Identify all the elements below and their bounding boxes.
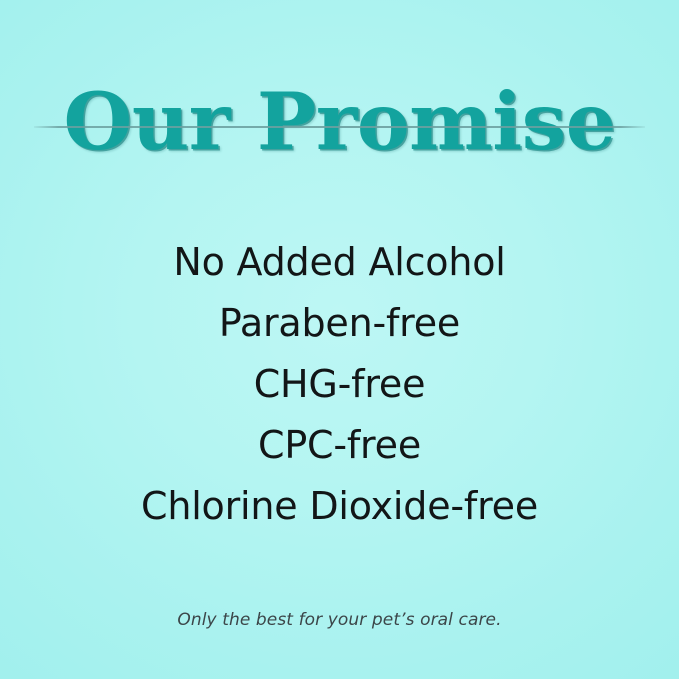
footer-tagline: Only the best for your pet’s oral care. (0, 608, 679, 632)
claims-list: No Added Alcohol Paraben-free CHG-free C… (0, 232, 679, 537)
list-item: No Added Alcohol (0, 232, 679, 293)
card-header: Our Promise (0, 0, 679, 136)
list-item: CPC-free (0, 415, 679, 476)
list-item: Paraben-free (0, 293, 679, 354)
page-title: Our Promise (0, 79, 679, 165)
title-divider (34, 126, 645, 128)
our-promise-card: Our Promise No Added Alcohol Paraben-fre… (0, 0, 679, 679)
list-item: Chlorine Dioxide-free (0, 476, 679, 537)
list-item: CHG-free (0, 354, 679, 415)
